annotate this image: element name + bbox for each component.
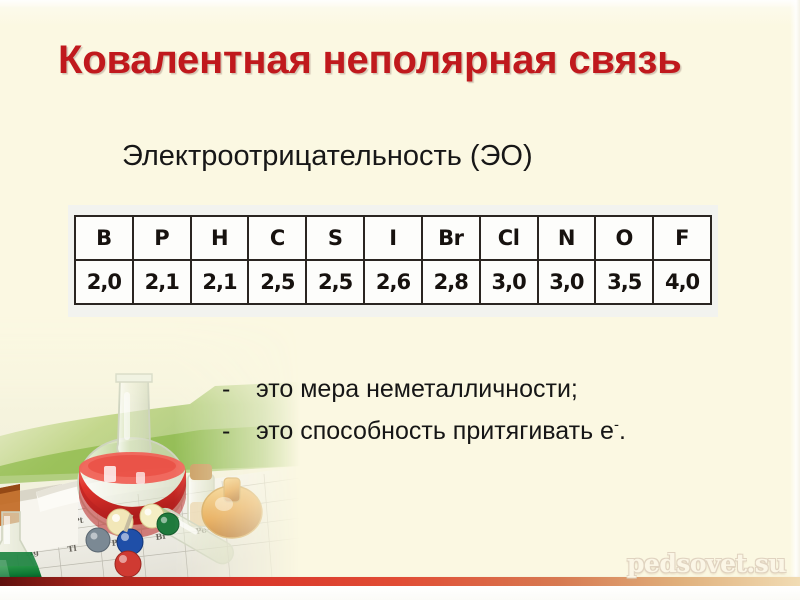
bullet-dash-1: - — [222, 372, 256, 408]
table-cell-value: 2,1 — [191, 260, 249, 304]
table-cell-symbol: N — [538, 216, 596, 260]
list-item: - это мера неметалличности; — [222, 372, 767, 408]
bottom-accent-bar — [0, 577, 800, 586]
bullet-text-2-main: это способность притягивать e — [256, 417, 614, 445]
slide-canvas: Hg Tl Pb Bi Po Au Pt Ir Os Re — [0, 0, 800, 600]
bullet-dash-2: - — [222, 414, 256, 450]
slide-top-edge-highlight — [0, 0, 800, 8]
table-cell-symbol: B — [75, 216, 133, 260]
table-cell-value: 4,0 — [653, 260, 711, 304]
table-cell-symbol: Br — [422, 216, 480, 260]
table-cell-symbol: P — [133, 216, 191, 260]
electronegativity-table: BPHCSIBrClNOF 2,02,12,12,52,52,62,83,03,… — [74, 215, 712, 305]
slide-title: Ковалентная неполярная связь — [58, 34, 698, 87]
table-cell-value: 3,0 — [480, 260, 538, 304]
bullet-text-2: это способность притягивать e-. — [256, 414, 767, 450]
table-cell-value: 3,0 — [538, 260, 596, 304]
table-cell-value: 2,5 — [248, 260, 306, 304]
table-cell-symbol: H — [191, 216, 249, 260]
table-cell-value: 2,8 — [422, 260, 480, 304]
list-item: - это способность притягивать e-. — [222, 414, 767, 450]
slide-subtitle: Электроотрицательность (ЭО) — [122, 141, 533, 173]
table-cell-value: 2,1 — [133, 260, 191, 304]
table-cell-value: 2,6 — [364, 260, 422, 304]
table-cell-symbol: O — [595, 216, 653, 260]
definition-bullet-list: - это мера неметалличности; - это способ… — [222, 372, 767, 455]
bullet-text-1: это мера неметалличности; — [256, 372, 767, 408]
slide-right-edge-highlight — [790, 0, 800, 600]
table-cell-symbol: F — [653, 216, 711, 260]
table-cell-value: 2,5 — [306, 260, 364, 304]
table-row-values: 2,02,12,12,52,52,62,83,03,03,54,0 — [75, 260, 711, 304]
table-cell-symbol: Cl — [480, 216, 538, 260]
table-cell-symbol: S — [306, 216, 364, 260]
table-cell-symbol: I — [364, 216, 422, 260]
electronegativity-table-panel: BPHCSIBrClNOF 2,02,12,12,52,52,62,83,03,… — [68, 205, 718, 317]
bottom-white-strip — [0, 586, 800, 600]
site-watermark: pedsovet.su — [627, 549, 786, 578]
table-cell-value: 3,5 — [595, 260, 653, 304]
table-row-symbols: BPHCSIBrClNOF — [75, 216, 711, 260]
table-cell-symbol: C — [248, 216, 306, 260]
table-cell-value: 2,0 — [75, 260, 133, 304]
bullet-text-2-period: . — [619, 417, 626, 445]
